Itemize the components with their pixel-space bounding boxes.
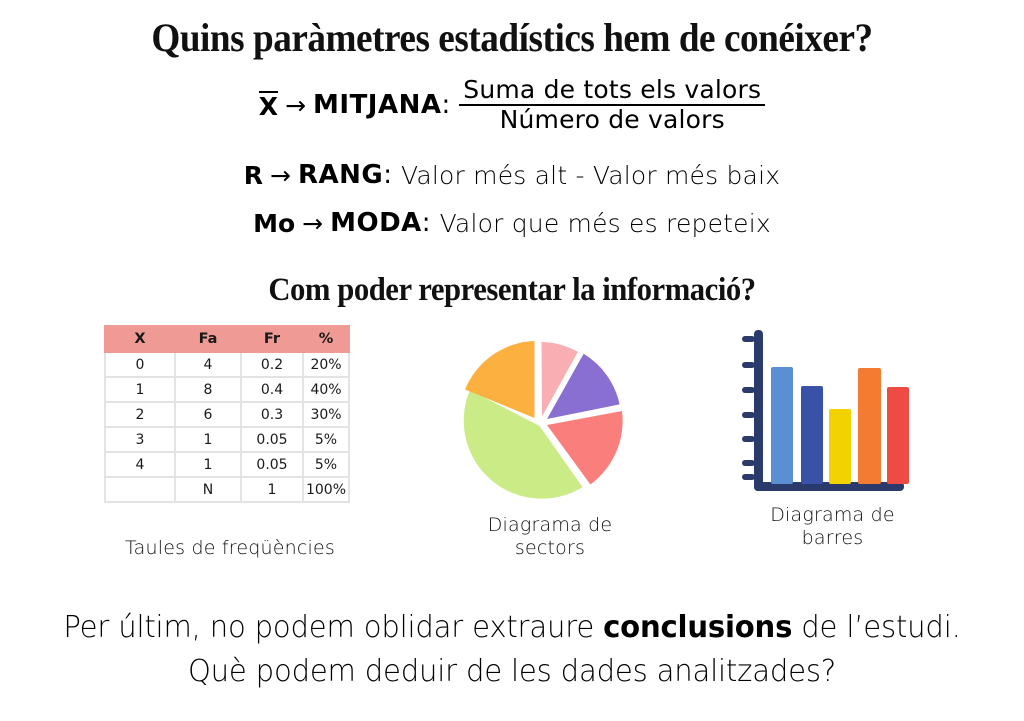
symbol-mo: Mo bbox=[253, 209, 295, 238]
section-title-representation: Com poder representar la informació? bbox=[36, 272, 988, 309]
conclusion-text: Per últim, no podem oblidar extraure con… bbox=[0, 606, 1024, 694]
bar-2 bbox=[829, 409, 851, 484]
table-cell: 6 bbox=[175, 402, 241, 427]
parameter-term-mitjana: MITJANA bbox=[313, 90, 441, 120]
symbol-r: R bbox=[244, 161, 263, 190]
table-cell: 0 bbox=[105, 352, 175, 377]
table-cell: 0.3 bbox=[241, 402, 303, 427]
table-header-x: X bbox=[105, 326, 175, 352]
table-cell: 1 bbox=[175, 452, 241, 477]
frequency-table-panel: X Fa Fr % 0 4 0.2 20% 1 8 0.4 40% bbox=[104, 325, 354, 503]
fraction-mean: Suma de tots els valors Número de valors bbox=[459, 77, 765, 133]
table-header-pct: % bbox=[303, 326, 349, 352]
table-cell: 4 bbox=[175, 352, 241, 377]
table-header-row: X Fa Fr % bbox=[105, 326, 349, 352]
fraction-denominator: Número de valors bbox=[500, 106, 725, 133]
table-total-row: N 1 100% bbox=[105, 477, 349, 502]
table-cell: 1 bbox=[105, 377, 175, 402]
table-cell: 1 bbox=[241, 477, 303, 502]
bar-1 bbox=[801, 386, 823, 484]
symbol-x-bar: X bbox=[259, 91, 278, 119]
parameter-term-rang: RANG bbox=[298, 160, 383, 190]
table-header-fr: Fr bbox=[241, 326, 303, 352]
parameter-definition-rang: Valor més alt - Valor més baix bbox=[401, 161, 780, 190]
table-row: 2 6 0.3 30% bbox=[105, 402, 349, 427]
bar-chart-panel bbox=[735, 322, 930, 507]
caption-pie-line2: sectors bbox=[515, 537, 585, 559]
table-cell: 0.05 bbox=[241, 427, 303, 452]
table-cell: 30% bbox=[303, 402, 349, 427]
arrow-icon: → bbox=[285, 93, 306, 118]
conclusion-line-2: Què podem deduir de les dades analitzade… bbox=[15, 650, 1008, 694]
parameter-row-rang: R → RANG : Valor més alt - Valor més bai… bbox=[0, 155, 1024, 195]
table-row: 3 1 0.05 5% bbox=[105, 427, 349, 452]
conclusion-line-1: Per últim, no podem oblidar extraure con… bbox=[15, 606, 1008, 650]
colon-rang: : bbox=[383, 160, 392, 190]
caption-bar-chart: Diagrama de barres bbox=[735, 504, 930, 550]
table-cell: 100% bbox=[303, 477, 349, 502]
table-header-fa: Fa bbox=[175, 326, 241, 352]
bar-chart-bars bbox=[771, 367, 909, 484]
conclusion-line1-before: Per últim, no podem oblidar extraure bbox=[63, 610, 603, 645]
table-cell: 2 bbox=[105, 402, 175, 427]
caption-frequency-table: Taules de freqüències bbox=[60, 537, 400, 560]
conclusion-line1-after: de l’estudi. bbox=[792, 610, 960, 645]
table-cell: N bbox=[175, 477, 241, 502]
table-cell: 1 bbox=[175, 427, 241, 452]
parameter-row-moda: Mo → MODA : Valor que més es repeteix bbox=[0, 203, 1024, 243]
table-cell: 0.2 bbox=[241, 352, 303, 377]
table-row: 0 4 0.2 20% bbox=[105, 352, 349, 377]
table-cell: 5% bbox=[303, 427, 349, 452]
table-cell: 0.4 bbox=[241, 377, 303, 402]
bar-4 bbox=[887, 387, 909, 484]
table-cell: 5% bbox=[303, 452, 349, 477]
table-cell: 20% bbox=[303, 352, 349, 377]
table-cell: 8 bbox=[175, 377, 241, 402]
bar-3 bbox=[858, 368, 881, 484]
page-title: Quins paràmetres estadístics hem de coné… bbox=[36, 14, 988, 61]
parameter-definition-moda: Valor que més es repeteix bbox=[440, 209, 771, 238]
pie-chart-icon bbox=[455, 322, 645, 507]
arrow-icon: → bbox=[302, 211, 323, 236]
pie-chart-panel bbox=[455, 322, 645, 507]
bar-0 bbox=[771, 367, 793, 484]
representations-row: X Fa Fr % 0 4 0.2 20% 1 8 0.4 40% bbox=[0, 322, 1024, 582]
conclusion-keyword: conclusions bbox=[603, 610, 792, 645]
table-row: 4 1 0.05 5% bbox=[105, 452, 349, 477]
parameter-term-moda: MODA bbox=[330, 208, 422, 238]
parameter-row-mitjana: X → MITJANA : Suma de tots els valors Nú… bbox=[0, 74, 1024, 136]
colon-mitjana: : bbox=[441, 90, 450, 120]
fraction-numerator: Suma de tots els valors bbox=[459, 77, 765, 106]
table-row: 1 8 0.4 40% bbox=[105, 377, 349, 402]
caption-pie-chart: Diagrama de sectors bbox=[450, 514, 650, 560]
frequency-table: X Fa Fr % 0 4 0.2 20% 1 8 0.4 40% bbox=[104, 325, 350, 503]
table-cell: 3 bbox=[105, 427, 175, 452]
table-cell-empty bbox=[105, 477, 175, 502]
colon-moda: : bbox=[422, 208, 431, 238]
table-cell: 40% bbox=[303, 377, 349, 402]
caption-pie-line1: Diagrama de bbox=[488, 514, 613, 536]
table-cell: 0.05 bbox=[241, 452, 303, 477]
arrow-icon: → bbox=[270, 163, 291, 188]
caption-bar-line1: Diagrama de bbox=[770, 504, 895, 526]
table-cell: 4 bbox=[105, 452, 175, 477]
bar-chart-icon bbox=[735, 322, 930, 507]
caption-bar-line2: barres bbox=[802, 527, 864, 549]
